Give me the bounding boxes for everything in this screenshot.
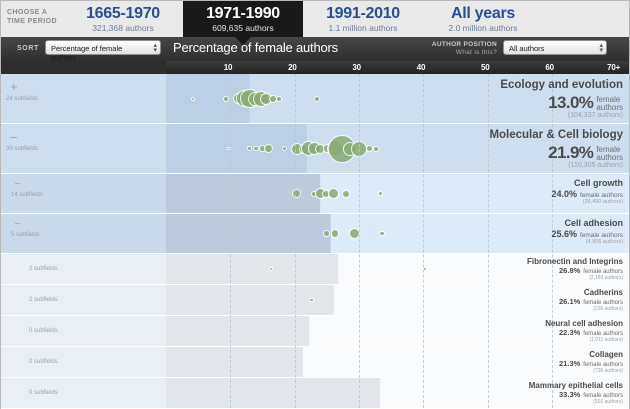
- axis-tick-40: 40: [417, 63, 426, 72]
- female-percentage: 22.3%: [559, 328, 580, 337]
- subfield-bubble[interactable]: [373, 146, 379, 152]
- field-name: Ecology and evolution: [500, 79, 623, 91]
- author-count: (1,011 authors): [589, 337, 623, 343]
- author-position-label: AUTHOR POSITION What is this?: [425, 41, 497, 57]
- field-stat-line: 25.6%female authors: [551, 229, 623, 239]
- subfield-bubble[interactable]: [191, 97, 195, 101]
- period-tab-1[interactable]: 1971-1990609,635 authors: [183, 1, 303, 37]
- time-period-selector: CHOOSE A TIME PERIOD 1665-1970321,368 au…: [1, 1, 629, 37]
- period-tab-3[interactable]: All years2.0 million authors: [423, 1, 543, 37]
- collapse-icon[interactable]: –: [10, 130, 17, 143]
- author-count: (4,906 authors): [586, 239, 623, 245]
- period-tab-name: 1665-1970: [63, 4, 183, 23]
- field-row[interactable]: –39 subfieldsMolecular & Cell biology21.…: [1, 124, 629, 174]
- female-percentage: 21.3%: [559, 359, 580, 368]
- field-row[interactable]: –5 subfieldsCell adhesion25.6%female aut…: [1, 214, 629, 254]
- axis-tick-50: 50: [481, 63, 490, 72]
- choose-label-line1: CHOOSE A: [7, 8, 63, 17]
- subfield-bubble[interactable]: [227, 147, 231, 151]
- female-percentage: 24.0%: [551, 189, 577, 199]
- subfield-count: 5 subfields: [11, 232, 40, 238]
- field-stat-line: 33.3%female authors: [559, 390, 623, 399]
- field-stat-line: 13.0%femaleauthors: [548, 93, 623, 113]
- percentage-unit: femaleauthors: [596, 143, 623, 162]
- author-count: (104,337 authors): [568, 112, 623, 119]
- axis-tick-70+: 70+: [607, 63, 620, 72]
- axis-tick-10: 10: [224, 63, 233, 72]
- female-percentage: 26.8%: [559, 266, 580, 275]
- period-tab-count: 321,368 authors: [63, 23, 183, 34]
- period-tab-name: 1991-2010: [303, 4, 423, 23]
- subfield-count: 0 subfields: [29, 390, 58, 396]
- author-count: (236 authors): [593, 306, 623, 312]
- field-stat-line: 24.0%female authors: [551, 189, 623, 199]
- field-row[interactable]: –14 subfieldsCell growth24.0%female auth…: [1, 174, 629, 214]
- field-row[interactable]: 0 subfieldsNeural cell adhesion22.3%fema…: [1, 316, 629, 347]
- subfield-bubble[interactable]: [331, 229, 339, 237]
- control-bar: SORT Percentage of female authors ▴▾ Per…: [1, 37, 629, 61]
- author-count: (28,490 authors): [583, 199, 623, 205]
- choose-label-line2: TIME PERIOD: [7, 17, 63, 26]
- subfield-bubble[interactable]: [247, 146, 251, 150]
- field-stat-line: 21.9%femaleauthors: [548, 143, 623, 163]
- field-row[interactable]: 0 subfieldsMammary epithelial cells33.3%…: [1, 378, 629, 409]
- subfield-count: 0 subfields: [29, 359, 58, 365]
- field-name: Cadherins: [584, 288, 623, 297]
- field-stat-line: 26.1%female authors: [559, 297, 623, 306]
- percentage-unit: female authors: [580, 232, 623, 239]
- field-name: Mammary epithelial cells: [529, 381, 623, 390]
- what-is-this-link[interactable]: What is this?: [425, 49, 497, 57]
- percentage-unit-line2: authors: [596, 104, 623, 112]
- field-label-panel: [1, 285, 166, 315]
- field-stat-line: 21.3%female authors: [559, 359, 623, 368]
- field-name: Molecular & Cell biology: [489, 129, 623, 141]
- field-name: Collagen: [589, 350, 623, 359]
- author-position-select[interactable]: All authors ▴▾: [503, 40, 607, 55]
- subfield-bubble[interactable]: [342, 190, 350, 198]
- subfield-count: 24 subfields: [6, 96, 38, 102]
- field-row[interactable]: 2 subfieldsCadherins26.1%female authors(…: [1, 285, 629, 316]
- subfield-bubble[interactable]: [423, 267, 427, 271]
- author-count: (736 authors): [593, 368, 623, 374]
- period-tab-name: 1971-1990: [183, 4, 303, 23]
- subfield-bubble[interactable]: [276, 96, 282, 102]
- chart-title: Percentage of female authors: [173, 40, 338, 55]
- female-percentage: 21.9%: [548, 143, 593, 162]
- author-position-value: All authors: [509, 44, 544, 53]
- sort-select[interactable]: Percentage of female authors ▴▾: [45, 40, 161, 55]
- sort-select-value: Percentage of female authors: [51, 44, 122, 62]
- subfield-bubble[interactable]: [292, 189, 301, 198]
- axis-tick-30: 30: [352, 63, 361, 72]
- subfield-bubble[interactable]: [366, 145, 373, 152]
- subfield-bubble[interactable]: [223, 96, 229, 102]
- collapse-icon[interactable]: –: [15, 219, 21, 229]
- female-percentage: 13.0%: [548, 93, 593, 112]
- subfield-bubble[interactable]: [379, 231, 384, 236]
- period-tab-name: All years: [423, 4, 543, 23]
- period-tab-count: 2.0 million authors: [423, 23, 543, 34]
- field-stat-line: 22.3%female authors: [559, 328, 623, 337]
- axis-left-pad: [1, 61, 166, 74]
- author-count: (110,305 authors): [568, 162, 623, 169]
- author-position-title: AUTHOR POSITION: [425, 41, 497, 49]
- subfield-count: 14 subfields: [11, 192, 43, 198]
- chevron-updown-icon: ▴▾: [153, 43, 157, 53]
- subfield-count: 2 subfields: [29, 266, 58, 272]
- subfield-bubble[interactable]: [323, 230, 330, 237]
- field-row[interactable]: +24 subfieldsEcology and evolution13.0%f…: [1, 74, 629, 124]
- subfield-count: 39 subfields: [6, 146, 38, 152]
- subfield-bubble[interactable]: [309, 298, 313, 302]
- field-name: Cell adhesion: [564, 218, 623, 228]
- chart-app: CHOOSE A TIME PERIOD 1665-1970321,368 au…: [0, 0, 630, 409]
- author-count: (2,183 authors): [589, 275, 623, 281]
- period-tab-2[interactable]: 1991-20101.1 million authors: [303, 1, 423, 37]
- chart-body: +24 subfieldsEcology and evolution13.0%f…: [1, 74, 629, 408]
- field-rows: +24 subfieldsEcology and evolution13.0%f…: [1, 74, 629, 409]
- field-stat-line: 26.8%female authors: [559, 266, 623, 275]
- field-name: Neural cell adhesion: [545, 319, 623, 328]
- female-percentage: 26.1%: [559, 297, 580, 306]
- percentage-unit: female authors: [580, 192, 623, 199]
- sort-label: SORT: [17, 45, 39, 52]
- field-label-panel: [1, 316, 166, 346]
- chevron-updown-icon: ▴▾: [599, 43, 603, 53]
- expand-icon[interactable]: +: [10, 80, 18, 93]
- subfield-count: 0 subfields: [29, 328, 58, 334]
- subfield-bubble[interactable]: [314, 96, 320, 102]
- axis-tick-20: 20: [288, 63, 297, 72]
- field-row[interactable]: 2 subfieldsFibronectin and Integrins26.8…: [1, 254, 629, 285]
- field-label-panel: [1, 254, 166, 284]
- percentage-unit-line2: authors: [596, 154, 623, 162]
- field-name: Cell growth: [574, 178, 623, 188]
- period-tab-0[interactable]: 1665-1970321,368 authors: [63, 1, 183, 37]
- subfield-count: 2 subfields: [29, 297, 58, 303]
- collapse-icon[interactable]: –: [15, 179, 21, 189]
- female-percentage: 25.6%: [551, 229, 577, 239]
- period-tabs: 1665-1970321,368 authors1971-1990609,635…: [63, 1, 543, 37]
- period-tab-count: 1.1 million authors: [303, 23, 423, 34]
- field-label-panel: [1, 347, 166, 377]
- subfield-bubble[interactable]: [349, 228, 360, 239]
- subfield-bubble[interactable]: [351, 141, 367, 157]
- axis-tick-60: 60: [545, 63, 554, 72]
- field-label-panel: [1, 378, 166, 408]
- author-count: (501 authors): [593, 399, 623, 405]
- female-percentage: 33.3%: [559, 390, 580, 399]
- field-row[interactable]: 0 subfieldsCollagen21.3%female authors(7…: [1, 347, 629, 378]
- percentage-unit: femaleauthors: [596, 93, 623, 112]
- field-name: Fibronectin and Integrins: [527, 257, 623, 266]
- choose-time-period-label: CHOOSE A TIME PERIOD: [1, 1, 63, 37]
- subfield-bubble[interactable]: [253, 146, 258, 151]
- period-tab-count: 609,635 authors: [183, 23, 303, 34]
- x-axis: 10203040506070+: [1, 61, 629, 74]
